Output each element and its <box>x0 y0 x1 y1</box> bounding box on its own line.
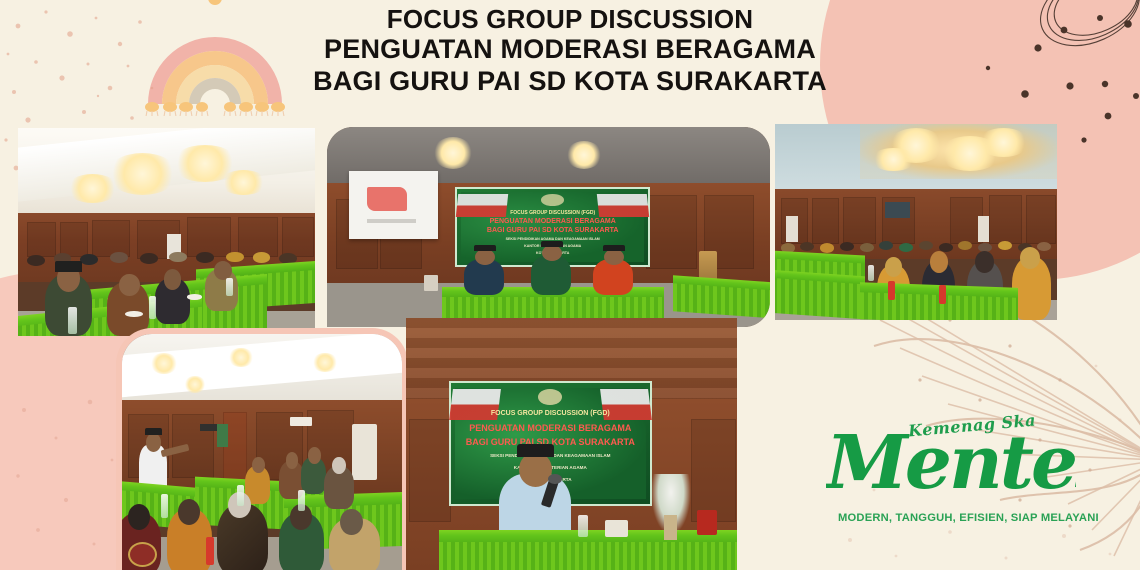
photo-audience-left <box>18 128 315 336</box>
photo-speaker-mic: FOCUS GROUP DISCUSSION (FGD) PENGUATAN M… <box>406 318 737 570</box>
banner2-line-1: FOCUS GROUP DISCUSSION (FGD) <box>459 410 642 417</box>
logo-wordmark-mentes: Mentes <box>826 422 1076 504</box>
photo-audience-right <box>775 124 1057 320</box>
banner-line-1: FOCUS GROUP DISCUSSION (FGD) <box>465 210 640 216</box>
logo-tagline: MODERN, TANGGUH, EFISIEN, SIAP MELAYANI <box>838 512 1068 524</box>
poster-canvas: FOCUS GROUP DISCUSSION PENGUATAN MODERAS… <box>0 0 1140 570</box>
title-line-3: BAGI GURU PAI SD KOTA SURAKARTA <box>0 66 1140 98</box>
banner2-line-2: PENGUATAN MODERASI BERAGAMA <box>459 423 642 433</box>
title-line-2: PENGUATAN MODERASI BERAGAMA <box>0 34 1140 66</box>
banner-line-2: PENGUATAN MODERASI BERAGAMA <box>465 218 640 225</box>
svg-text:Mentes: Mentes <box>826 422 1076 504</box>
title-line-1: FOCUS GROUP DISCUSSION <box>0 4 1140 34</box>
banner-line-3: BAGI GURU PAI SD KOTA SURAKARTA <box>465 227 640 234</box>
mentes-logo: Kemenag Ska Mentes MODERN, TANGGUH, EFIS… <box>820 400 1080 540</box>
photo-speaker-standing <box>122 334 402 570</box>
poster-title: FOCUS GROUP DISCUSSION PENGUATAN MODERAS… <box>0 4 1140 98</box>
photo-stage-center: FOCUS GROUP DISCUSSION (FGD) PENGUATAN M… <box>327 127 770 327</box>
